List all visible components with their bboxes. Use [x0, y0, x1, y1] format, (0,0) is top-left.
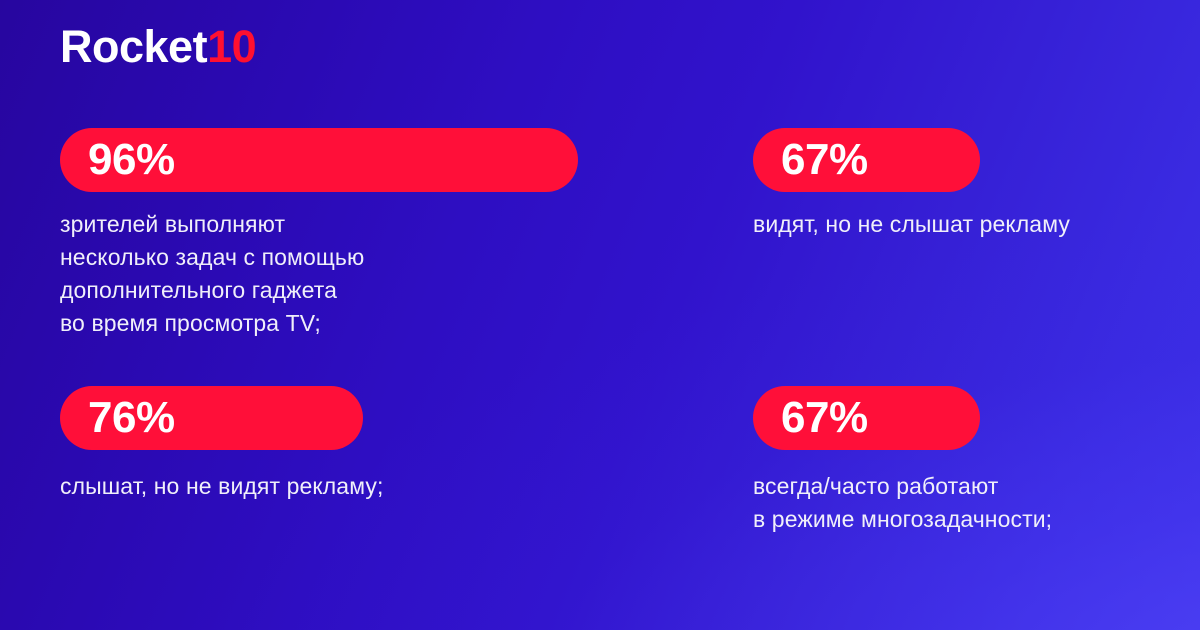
- stat-caption-67-top: видят, но не слышат рекламу: [753, 208, 1070, 241]
- stat-badge-76: 76%: [60, 386, 363, 450]
- brand-logo: Rocket10: [60, 24, 256, 69]
- stat-value-67-bottom: 67%: [781, 396, 868, 440]
- caption-line: несколько задач с помощью: [60, 241, 578, 274]
- poster-content: Rocket10 96% зрителей выполняют нескольк…: [0, 0, 1200, 630]
- infographic-poster: Rocket10 96% зрителей выполняют нескольк…: [0, 0, 1200, 630]
- stat-badge-67-bottom: 67%: [753, 386, 980, 450]
- caption-line: видят, но не слышат рекламу: [753, 208, 1070, 241]
- caption-line: слышат, но не видят рекламу;: [60, 470, 383, 503]
- stat-badge-67-top: 67%: [753, 128, 980, 192]
- stat-caption-96: зрителей выполняют несколько задач с пом…: [60, 208, 578, 340]
- brand-name-primary: Rocket: [60, 21, 207, 72]
- caption-line: в режиме многозадачности;: [753, 503, 1052, 536]
- caption-line: зрителей выполняют: [60, 208, 578, 241]
- caption-line: всегда/часто работают: [753, 470, 1052, 503]
- caption-line: во время просмотра TV;: [60, 307, 578, 340]
- stat-value-76: 76%: [88, 396, 175, 440]
- stat-card-96: 96% зрителей выполняют несколько задач с…: [60, 128, 578, 340]
- stat-caption-76: слышат, но не видят рекламу;: [60, 470, 383, 503]
- stat-card-67-bottom: 67% всегда/часто работают в режиме много…: [753, 386, 1052, 536]
- brand-name-suffix: 10: [207, 21, 256, 72]
- stat-badge-96: 96%: [60, 128, 578, 192]
- stat-caption-67-bottom: всегда/часто работают в режиме многозада…: [753, 470, 1052, 536]
- caption-line: дополнительного гаджета: [60, 274, 578, 307]
- stat-value-67-top: 67%: [781, 138, 868, 182]
- stat-value-96: 96%: [88, 138, 175, 182]
- stat-card-67-top: 67% видят, но не слышат рекламу: [753, 128, 1070, 241]
- stat-card-76: 76% слышат, но не видят рекламу;: [60, 386, 383, 503]
